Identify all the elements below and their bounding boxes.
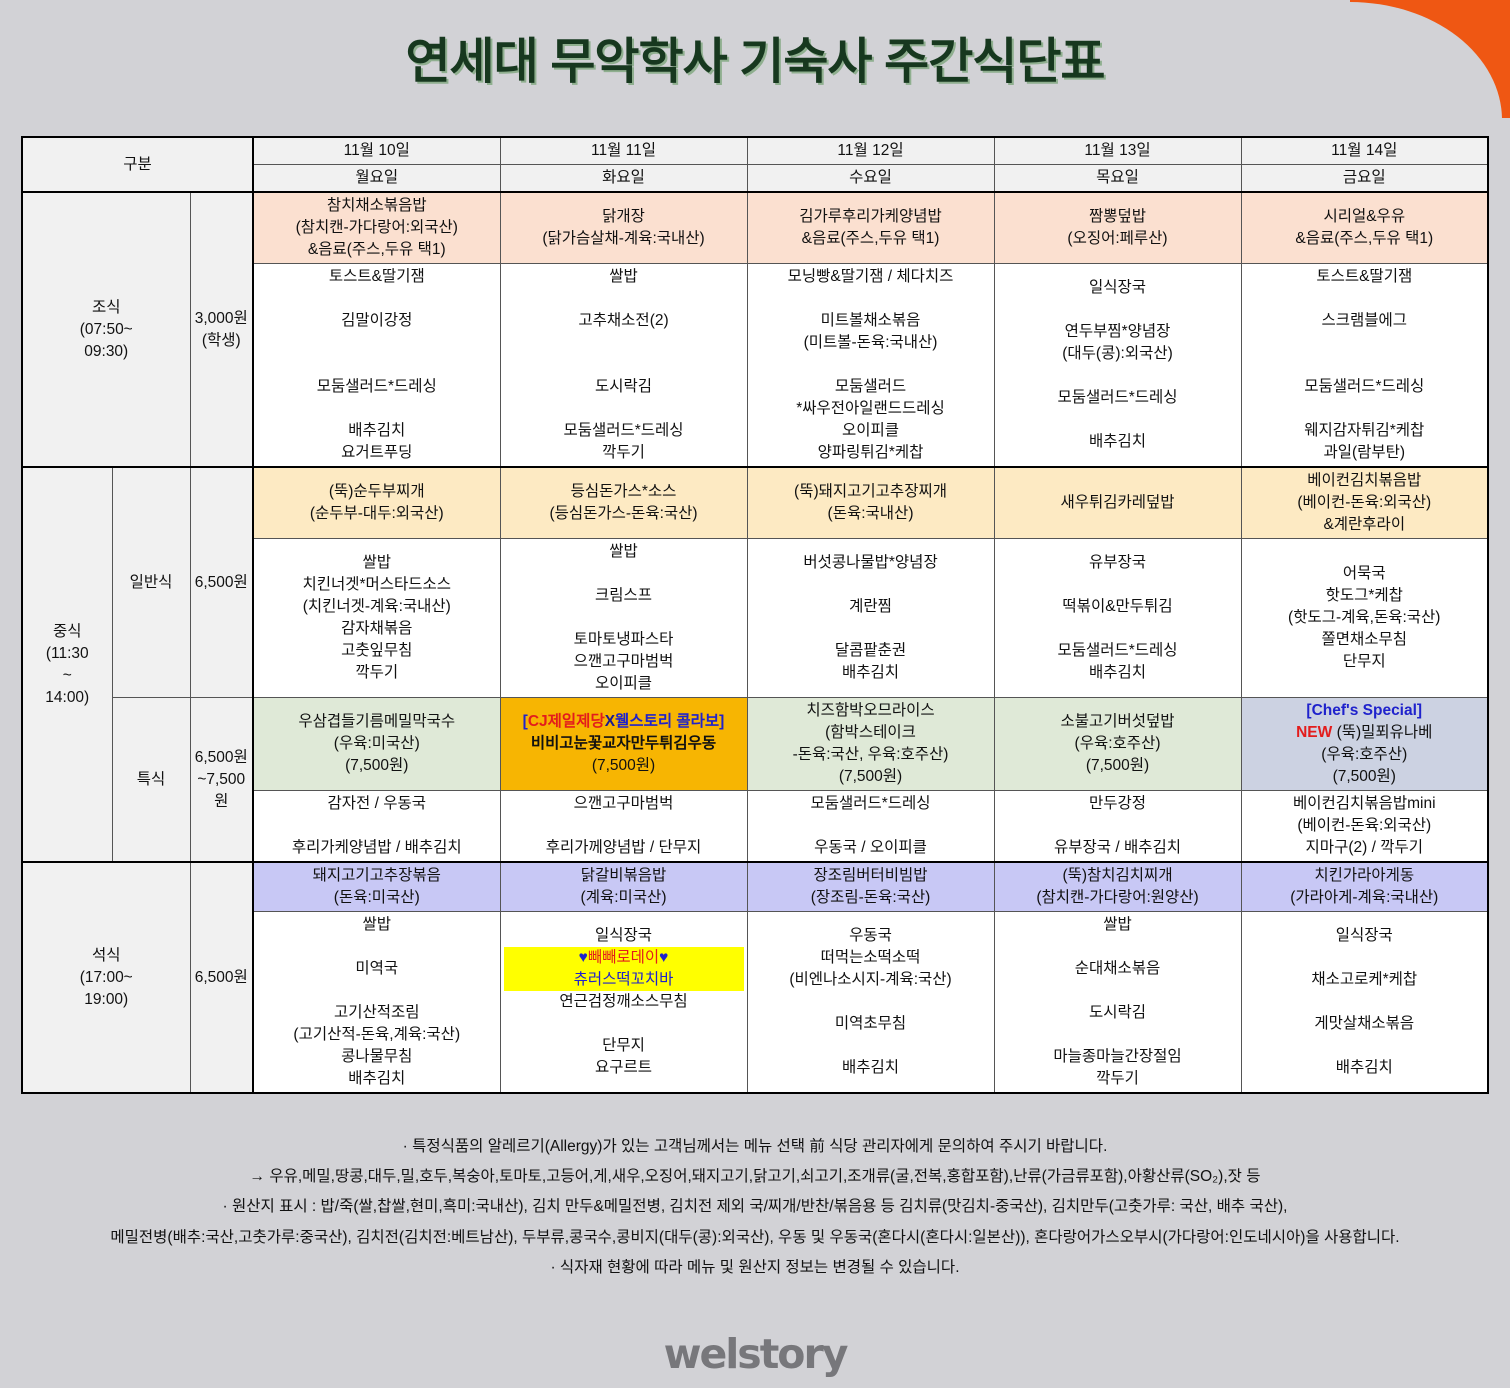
cj-x-label: X [605, 713, 615, 730]
welstory-logo-text: welstory [664, 1330, 847, 1378]
breakfast-main-row: 조식(07:50~09:30) 3,000원(학생) 참치채소볶음밥(참치캔-가… [22, 192, 1488, 264]
dinner-main-4: 치킨가라아게동(가라아게-계육:국내산) [1241, 862, 1488, 912]
lunch-special-main-0: 우삼겹들기름메밀막국수(우육:미국산)(7,500원) [253, 698, 500, 791]
lunch-special-sub-1: 으깬고구마범벅 후리가께양념밥 / 단무지 [500, 791, 747, 863]
dinner-sub-3: 쌀밥 순대채소볶음 도시락김 마늘종마늘간장절임깍두기 [994, 912, 1241, 1094]
dinner-sub-1: 일식장국 ♥빼빼로데이♥ 츄러스떡꼬치바 연근검정깨소스무침 단무지요구르트 [500, 912, 747, 1094]
day-weekday-1: 화요일 [500, 165, 747, 193]
pepero-day-label: 빼빼로데이 [588, 949, 659, 966]
chef-dish-origin: (우육:호주산) [1245, 744, 1485, 766]
pepero-day-highlight: ♥빼빼로데이♥ 츄러스떡꼬치바 [504, 947, 744, 991]
dinner-main-row: 석식(17:00~19:00) 6,500원 돼지고기고추장볶음(돈육:미국산)… [22, 862, 1488, 912]
lunch-special-sub-4: 베이컨김치볶음밥mini(베이컨-돈육:외국산)지마구(2) / 깍두기 [1241, 791, 1488, 863]
dinner-main-1: 닭갈비볶음밥(계육:미국산) [500, 862, 747, 912]
cj-dish-name: 비비고눈꽃교자만두튀김우동 [504, 733, 744, 755]
footer-note-0: · 특정식품의 알레르기(Allergy)가 있는 고객님께서는 메뉴 선택 前… [40, 1132, 1470, 1162]
cj-collab-badge: [CJ제일제당X웰스토리 콜라보] [504, 711, 744, 733]
lunch-special-sub-2: 모둠샐러드*드레싱 우동국 / 오이피클 [747, 791, 994, 863]
day-date-3: 11월 13일 [994, 137, 1241, 165]
lunch-special-main-4: [Chef's Special] NEW (뚝)밀푀유나베 (우육:호주산) (… [1241, 698, 1488, 791]
lunch-special-sub-0: 감자전 / 우동국 후리가케양념밥 / 배추김치 [253, 791, 500, 863]
dinner-price: 6,500원 [190, 862, 253, 1093]
breakfast-sub-0: 토스트&딸기잼 김말이강정 모둠샐러드*드레싱 배추김치요거트푸딩 [253, 264, 500, 468]
breakfast-sub-2: 모닝빵&딸기잼 / 체다치즈 미트볼채소볶음(미트볼-돈육:국내산) 모둠샐러드… [747, 264, 994, 468]
chef-dish-price: (7,500원) [1245, 766, 1485, 788]
footer-notes: · 특정식품의 알레르기(Allergy)가 있는 고객님께서는 메뉴 선택 前… [0, 1132, 1510, 1283]
dinner-main-0: 돼지고기고추장볶음(돈육:미국산) [253, 862, 500, 912]
pepero-day-title: ♥빼빼로데이♥ [504, 947, 744, 969]
breakfast-main-2: 김가루후리가케양념밥&음료(주스,두유 택1) [747, 192, 994, 264]
page-title: 연세대 무악학사 기숙사 주간식단표 [0, 22, 1510, 93]
cj-dish-price: (7,500원) [504, 755, 744, 777]
breakfast-price: 3,000원(학생) [190, 192, 253, 467]
heart-icon-left: ♥ [579, 949, 588, 966]
lunch-regular-sub-2: 버섯콩나물밥*양념장 계란찜 달콤팥춘권배추김치 [747, 539, 994, 698]
lunch-special-label: 특식 [112, 698, 190, 863]
cj-brand-label: CJ제일제당 [528, 713, 605, 730]
weekly-menu-table: 구분 11월 10일 11월 11일 11월 12일 11월 13일 11월 1… [21, 136, 1489, 1094]
day-weekday-4: 금요일 [1241, 165, 1488, 193]
cj-partner-label: 웰스토리 콜라보] [615, 713, 724, 730]
lunch-regular-price: 6,500원 [190, 467, 253, 698]
breakfast-sub-1: 쌀밥 고추채소전(2) 도시락김 모둠샐러드*드레싱깍두기 [500, 264, 747, 468]
dinner-sub-2: 우동국떠먹는소떡소떡(비엔나소시지-계육:국산) 미역초무침 배추김치 [747, 912, 994, 1094]
new-badge: NEW [1296, 724, 1332, 741]
lunch-special-main-row: 특식 6,500원~7,500원 우삼겹들기름메밀막국수(우육:미국산)(7,5… [22, 698, 1488, 791]
lunch-regular-sub-4: 어묵국핫도그*케찹(핫도그-계육,돈육:국산)쫄면채소무침단무지 [1241, 539, 1488, 698]
dinner-sub-4: 일식장국 채소고로케*케찹 게맛살채소볶음 배추김치 [1241, 912, 1488, 1094]
lunch-special-main-1: [CJ제일제당X웰스토리 콜라보] 비비고눈꽃교자만두튀김우동 (7,500원) [500, 698, 747, 791]
day-weekday-0: 월요일 [253, 165, 500, 193]
lunch-regular-main-3: 새우튀김카레덮밥 [994, 467, 1241, 539]
breakfast-label: 조식(07:50~09:30) [22, 192, 190, 467]
footer-note-4: · 식자재 현황에 따라 메뉴 및 원산지 정보는 변경될 수 있습니다. [40, 1253, 1470, 1283]
footer-note-2: · 원산지 표시 : 밥/죽(쌀,찹쌀,현미,흑미:국내산), 김치 만두&메밀… [40, 1192, 1470, 1222]
dinner-sub-0: 쌀밥 미역국 고기산적조림(고기산적-돈육,계육:국산)콩나물무침배추김치 [253, 912, 500, 1094]
lunch-special-sub-3: 만두강정 유부장국 / 배추김치 [994, 791, 1241, 863]
heart-icon-right: ♥ [659, 949, 668, 966]
day-date-1: 11월 11일 [500, 137, 747, 165]
dinner-label: 석식(17:00~19:00) [22, 862, 190, 1093]
breakfast-main-1: 닭개장(닭가슴살채-계육:국내산) [500, 192, 747, 264]
lunch-regular-sub-0: 쌀밥치킨너겟*머스타드소스(치킨너겟-계육:국내산)감자채볶음고춧잎무침깍두기 [253, 539, 500, 698]
breakfast-sub-4: 토스트&딸기잼 스크램블에그 모둠샐러드*드레싱 웨지감자튀김*케찹과일(람부탄… [1241, 264, 1488, 468]
chefs-special-badge: [Chef's Special] [1245, 700, 1485, 722]
division-header: 구분 [22, 137, 253, 192]
lunch-label: 중식(11:30~14:00) [22, 467, 112, 862]
lunch-regular-main-2: (뚝)돼지고기고추장찌개(돈육:국내산) [747, 467, 994, 539]
lunch-regular-main-4: 베이컨김치볶음밥(베이컨-돈육:외국산)&계란후라이 [1241, 467, 1488, 539]
table-header-dates: 구분 11월 10일 11월 11일 11월 12일 11월 13일 11월 1… [22, 137, 1488, 165]
lunch-special-main-3: 소불고기버섯덮밥(우육:호주산)(7,500원) [994, 698, 1241, 791]
lunch-regular-sub-3: 유부장국 떡볶이&만두튀김 모둠샐러드*드레싱배추김치 [994, 539, 1241, 698]
lunch-regular-sub-1: 쌀밥 크림스프 토마토냉파스타으깬고구마범벅오이피클 [500, 539, 747, 698]
dinner-sub-1-post: 연근검정깨소스무침 단무지요구르트 [504, 991, 744, 1079]
lunch-regular-label: 일반식 [112, 467, 190, 698]
day-weekday-3: 목요일 [994, 165, 1241, 193]
day-date-4: 11월 14일 [1241, 137, 1488, 165]
lunch-regular-main-row: 중식(11:30~14:00) 일반식 6,500원 (뚝)순두부찌개(순두부-… [22, 467, 1488, 539]
dinner-main-2: 장조림버터비빔밥(장조림-돈육:국산) [747, 862, 994, 912]
dinner-sub-1-pre: 일식장국 [504, 925, 744, 947]
chef-dish-name: (뚝)밀푀유나베 [1337, 724, 1433, 741]
lunch-special-main-2: 치즈함박오므라이스(함박스테이크-돈육:국산, 우육:호주산)(7,500원) [747, 698, 994, 791]
breakfast-main-4: 시리얼&우유&음료(주스,두유 택1) [1241, 192, 1488, 264]
lunch-regular-main-1: 등심돈가스*소스(등심돈가스-돈육:국산) [500, 467, 747, 539]
day-date-0: 11월 10일 [253, 137, 500, 165]
welstory-logo: welstory [0, 1330, 1510, 1378]
breakfast-main-3: 짬뽕덮밥(오징어:페루산) [994, 192, 1241, 264]
pepero-day-item: 츄러스떡꼬치바 [504, 969, 744, 991]
dinner-main-3: (뚝)참치김치찌개(참치캔-가다랑어:원양산) [994, 862, 1241, 912]
breakfast-sub-3: 일식장국 연두부찜*양념장(대두(콩):외국산) 모둠샐러드*드레싱 배추김치 [994, 264, 1241, 468]
day-date-2: 11월 12일 [747, 137, 994, 165]
day-weekday-2: 수요일 [747, 165, 994, 193]
breakfast-main-0: 참치채소볶음밥(참치캔-가다랑어:외국산)&음료(주스,두유 택1) [253, 192, 500, 264]
chef-dish-line: NEW (뚝)밀푀유나베 [1245, 722, 1485, 744]
lunch-special-price: 6,500원~7,500원 [190, 698, 253, 863]
footer-note-3: 메밀전병(배추:국산,고춧가루:중국산), 김치전(김치전:베트남산), 두부류… [40, 1223, 1470, 1253]
lunch-regular-main-0: (뚝)순두부찌개(순두부-대두:외국산) [253, 467, 500, 539]
footer-note-1: → 우유,메밀,땅콩,대두,밀,호두,복숭아,토마토,고등어,게,새우,오징어,… [40, 1162, 1470, 1192]
